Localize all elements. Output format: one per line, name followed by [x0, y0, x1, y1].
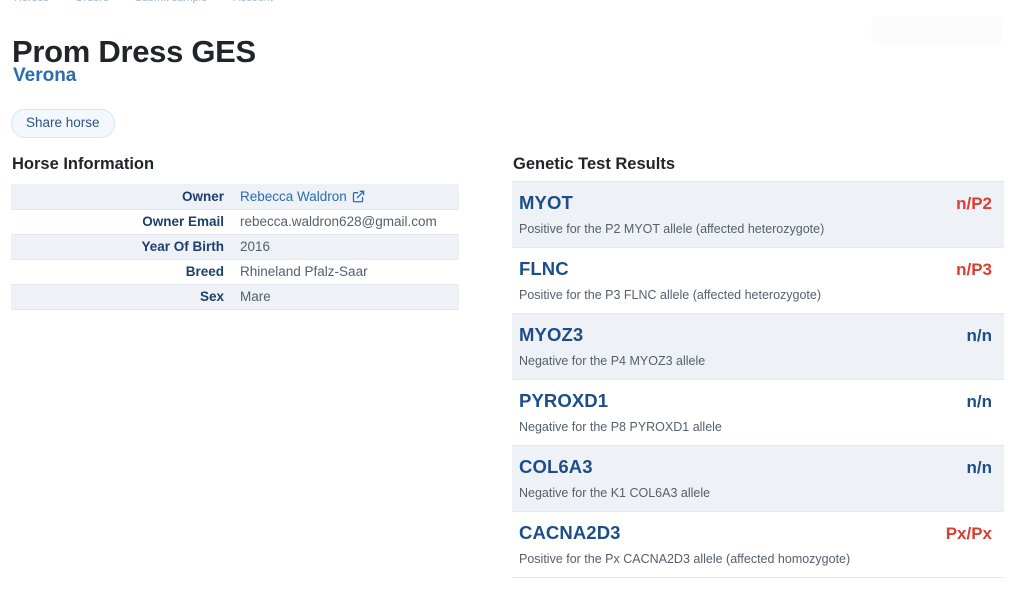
- row-value: Mare: [232, 284, 459, 309]
- gene-result-value: n/n: [967, 456, 993, 479]
- print-results-button[interactable]: Print test results: [871, 16, 1002, 46]
- nav-link-1[interactable]: Orders: [75, 0, 109, 4]
- genetic-result-card[interactable]: COL6A3 n/n Negative for the K1 COL6A3 al…: [512, 446, 1004, 512]
- gene-name: PYROXD1: [519, 389, 608, 412]
- genetic-test-results-heading: Genetic Test Results: [513, 154, 675, 174]
- gene-result-value: n/n: [967, 324, 993, 347]
- row-value: rebecca.waldron628@gmail.com: [232, 209, 459, 234]
- gene-description: Negative for the P4 MYOZ3 allele: [519, 353, 992, 369]
- genetic-result-card[interactable]: CACNA2D3 Px/Px Positive for the Px CACNA…: [512, 512, 1004, 578]
- print-results-label: Print test results: [881, 23, 971, 37]
- gene-result-value: n/n: [967, 390, 993, 413]
- horse-information-table: Owner Rebecca Waldron Owner Email rebecc…: [11, 184, 459, 310]
- gene-name: CACNA2D3: [519, 521, 621, 544]
- gene-result-value: n/P3: [956, 258, 992, 281]
- gene-description: Negative for the K1 COL6A3 allele: [519, 485, 992, 501]
- table-row: Sex Mare: [11, 284, 459, 309]
- genetic-result-card[interactable]: PYROXD1 n/n Negative for the P8 PYROXD1 …: [512, 380, 1004, 446]
- table-row: Owner Email rebecca.waldron628@gmail.com: [11, 209, 459, 234]
- row-label: Sex: [11, 284, 232, 309]
- gene-name: MYOZ3: [519, 323, 583, 346]
- table-row: Year Of Birth 2016: [11, 234, 459, 259]
- gene-name: FLNC: [519, 257, 569, 280]
- table-row: Breed Rhineland Pfalz-Saar: [11, 259, 459, 284]
- gene-name: COL6A3: [519, 455, 593, 478]
- gene-description: Positive for the P2 MYOT allele (affecte…: [519, 221, 992, 237]
- gene-description: Negative for the P8 PYROXD1 allele: [519, 419, 992, 435]
- row-label: Year Of Birth: [11, 234, 232, 259]
- horse-subtitle: Verona: [13, 64, 76, 88]
- genetic-result-card[interactable]: FLNC n/P3 Positive for the P3 FLNC allel…: [512, 248, 1004, 314]
- share-horse-button[interactable]: Share horse: [11, 109, 115, 138]
- nav-link-2[interactable]: Submit sample: [134, 0, 207, 4]
- nav-link-0[interactable]: Horses: [14, 0, 49, 4]
- table-row: Owner Rebecca Waldron: [11, 184, 459, 209]
- row-label: Owner: [11, 184, 232, 209]
- gene-name: MYOT: [519, 191, 573, 214]
- gene-result-value: n/P2: [956, 192, 992, 215]
- genetic-result-card[interactable]: MYOT n/P2 Positive for the P2 MYOT allel…: [512, 181, 1004, 248]
- owner-name-text: Rebecca Waldron: [240, 189, 347, 204]
- row-label: Breed: [11, 259, 232, 284]
- genetic-result-card[interactable]: MYOZ3 n/n Negative for the P4 MYOZ3 alle…: [512, 314, 1004, 380]
- genetic-test-results-list: MYOT n/P2 Positive for the P2 MYOT allel…: [512, 181, 1004, 578]
- horse-information-heading: Horse Information: [12, 154, 154, 174]
- top-navigation-bar[interactable]: Horses Orders Submit sample Account: [0, 0, 1024, 4]
- row-value[interactable]: Rebecca Waldron: [232, 184, 459, 209]
- row-value: 2016: [232, 234, 459, 259]
- gene-result-value: Px/Px: [946, 522, 992, 545]
- gene-description: Positive for the P3 FLNC allele (affecte…: [519, 287, 992, 303]
- nav-link-3[interactable]: Account: [233, 0, 273, 4]
- row-value: Rhineland Pfalz-Saar: [232, 259, 459, 284]
- gene-description: Positive for the Px CACNA2D3 allele (aff…: [519, 551, 992, 567]
- external-link-icon[interactable]: [352, 190, 365, 203]
- row-label: Owner Email: [11, 209, 232, 234]
